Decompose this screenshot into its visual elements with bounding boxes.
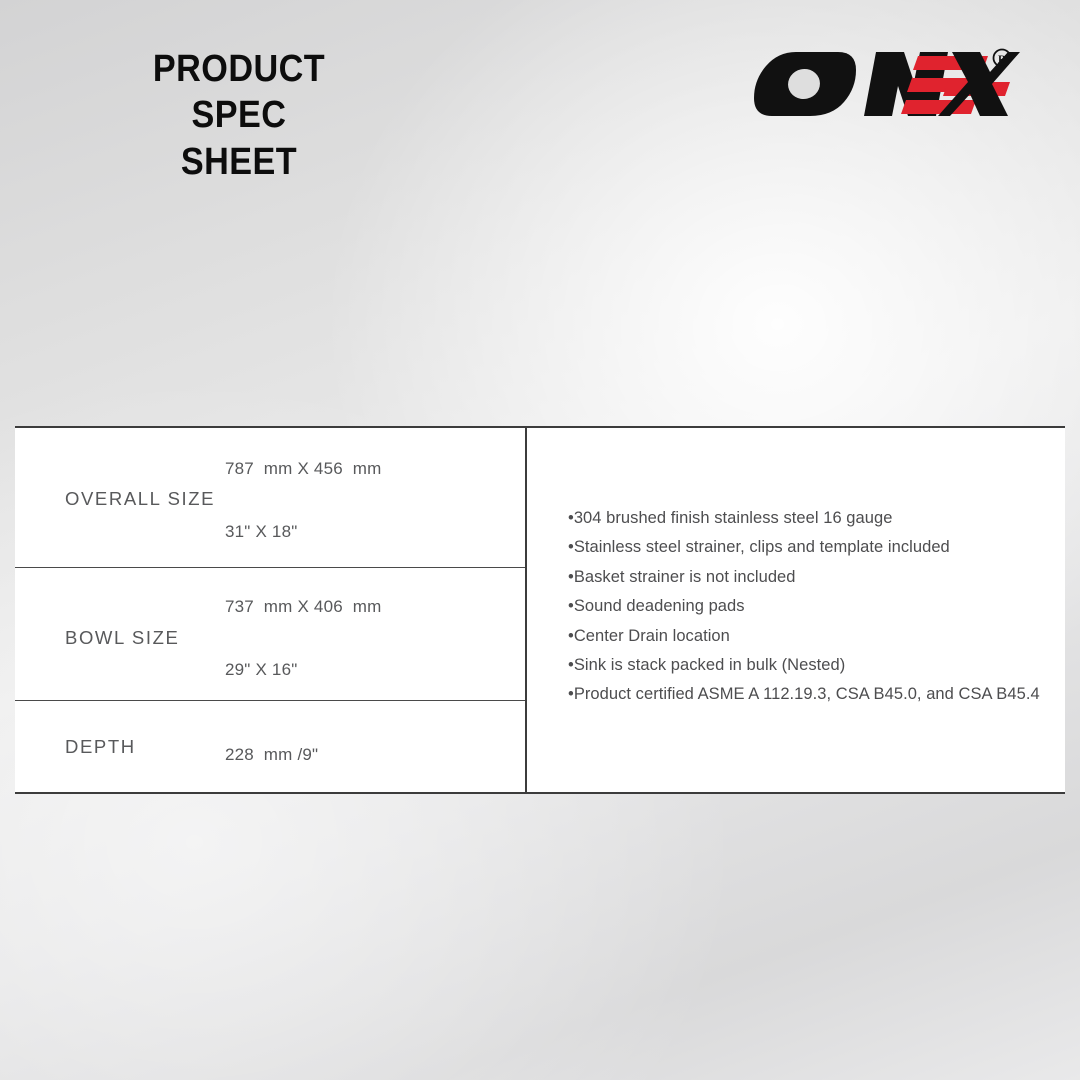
row-label-depth: DEPTH	[65, 736, 136, 758]
table-row-bowl-size: BOWL SIZE 737 mm X 406 mm 29" X 16"	[15, 568, 525, 701]
list-item: •Product certified ASME A 112.19.3, CSA …	[568, 680, 1040, 709]
table-row-depth: DEPTH 228 mm /9"	[15, 701, 525, 792]
feature-text: Stainless steel strainer, clips and temp…	[574, 538, 950, 556]
feature-text: Product certified ASME A 112.19.3, CSA B…	[574, 685, 1040, 703]
table-row-overall-size: OVERALL SIZE 787 mm X 456 mm 31" X 18"	[15, 428, 525, 568]
row-label-bowl-size: BOWL SIZE	[65, 627, 179, 649]
page-title: PRODUCT SPEC SHEET	[104, 46, 374, 185]
feature-text: Basket strainer is not included	[574, 568, 796, 586]
row-label-overall-size: OVERALL SIZE	[65, 488, 215, 510]
row-value-overall-size-imperial: 31" X 18"	[225, 522, 297, 542]
spec-features-column: •304 brushed finish stainless steel 16 g…	[527, 428, 1065, 792]
logo-letter-o	[754, 52, 856, 116]
row-value-depth-metric: 228 mm /9"	[225, 745, 318, 765]
feature-text: Sink is stack packed in bulk (Nested)	[574, 656, 845, 674]
list-item: •Sound deadening pads	[568, 592, 1040, 621]
list-item: •304 brushed finish stainless steel 16 g…	[568, 504, 1040, 533]
row-value-bowl-size-imperial: 29" X 16"	[225, 660, 297, 680]
list-item: •Basket strainer is not included	[568, 563, 1040, 592]
feature-list: •304 brushed finish stainless steel 16 g…	[568, 504, 1040, 710]
list-item: •Stainless steel strainer, clips and tem…	[568, 533, 1040, 562]
spec-table: OVERALL SIZE 787 mm X 456 mm 31" X 18" B…	[15, 426, 1065, 794]
onex-logo-icon: R	[752, 48, 1024, 120]
onex-logo: R	[752, 48, 1024, 120]
spec-dimensions-column: OVERALL SIZE 787 mm X 456 mm 31" X 18" B…	[15, 428, 527, 792]
feature-text: 304 brushed finish stainless steel 16 ga…	[574, 509, 893, 527]
spec-sheet-page: PRODUCT SPEC SHEET	[0, 0, 1080, 1080]
svg-text:R: R	[998, 54, 1007, 66]
row-value-overall-size-metric: 787 mm X 456 mm	[225, 459, 381, 479]
list-item: •Center Drain location	[568, 622, 1040, 651]
feature-text: Center Drain location	[574, 627, 730, 645]
row-value-bowl-size-metric: 737 mm X 406 mm	[225, 597, 381, 617]
list-item: •Sink is stack packed in bulk (Nested)	[568, 651, 1040, 680]
feature-text: Sound deadening pads	[574, 597, 745, 615]
